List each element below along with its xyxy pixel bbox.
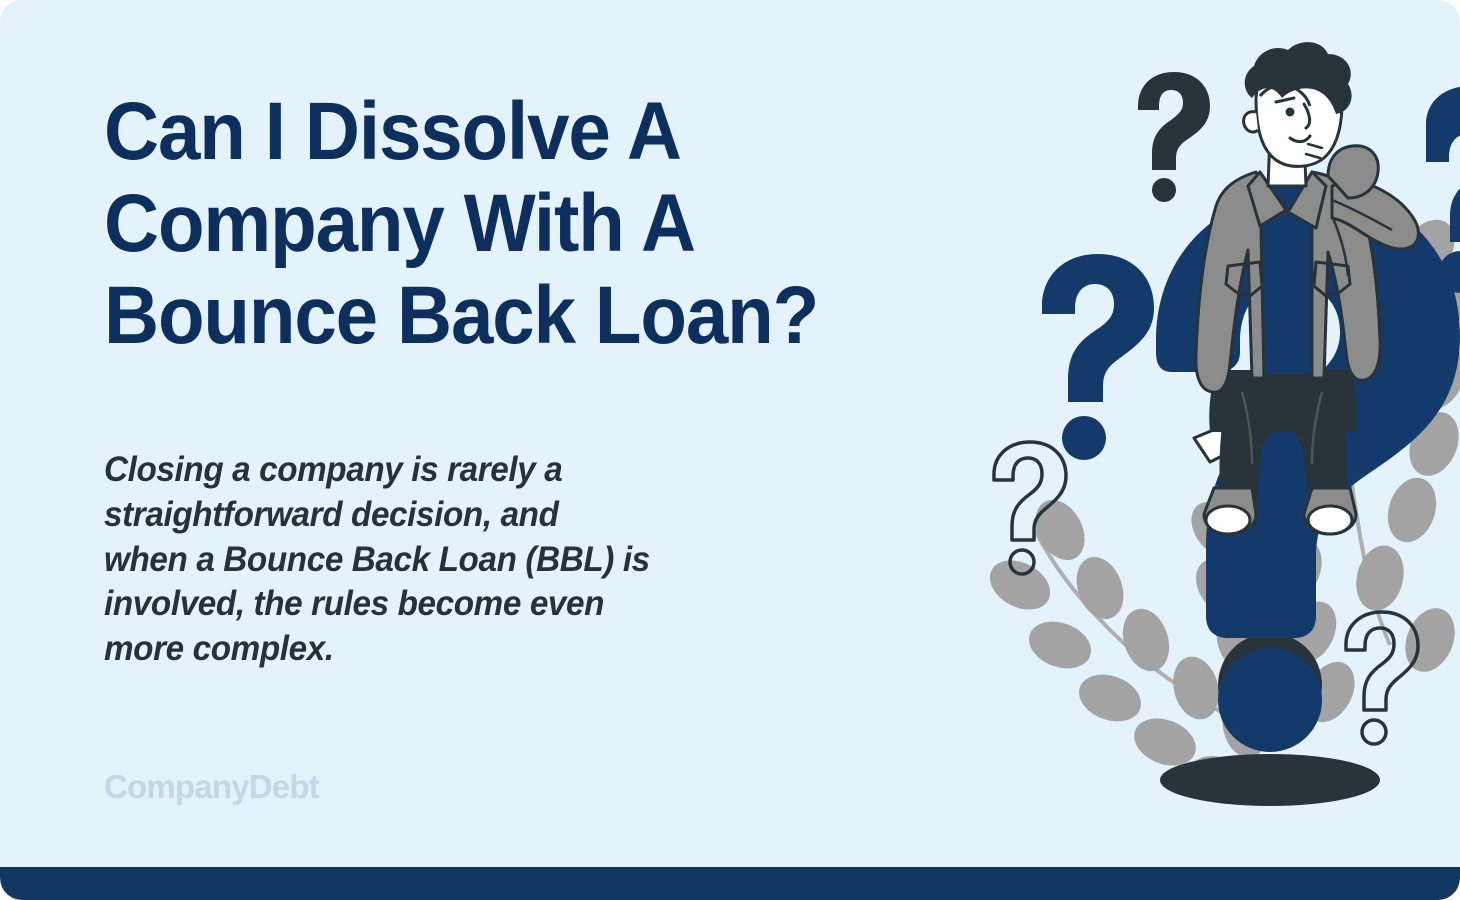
bottom-accent-bar: [0, 867, 1460, 900]
hero-illustration: [960, 40, 1460, 860]
medium-question-mark-navy: [1042, 254, 1154, 460]
question-mark-dot: [1218, 648, 1322, 752]
subtitle-text: Closing a company is rarely a straightfo…: [104, 448, 826, 672]
ground-shadow-ellipse: [1160, 754, 1380, 806]
text-column: Can I Dissolve A Company With A Bounce B…: [104, 86, 904, 361]
page-title: Can I Dissolve A Company With A Bounce B…: [104, 86, 848, 361]
outline-question-mark-right: [1346, 612, 1418, 744]
right-shoe: [1304, 488, 1356, 534]
brand-logo: CompanyDebt: [104, 768, 319, 806]
left-shoe: [1204, 488, 1256, 534]
small-question-mark-dark: [1138, 72, 1210, 202]
banner: Can I Dissolve A Company With A Bounce B…: [0, 0, 1460, 900]
